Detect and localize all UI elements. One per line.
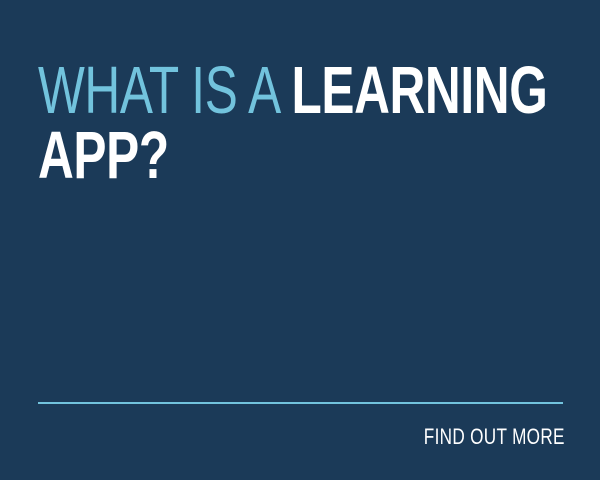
cta-row: Find Out More	[38, 424, 565, 450]
find-out-more-link[interactable]: Find Out More	[424, 424, 565, 450]
divider-rule	[38, 402, 563, 404]
title-slide: What is a Learning App? Find Out More	[0, 0, 600, 480]
page-title-lead: What is a	[38, 53, 291, 128]
page-title: What is a Learning App?	[38, 58, 568, 188]
